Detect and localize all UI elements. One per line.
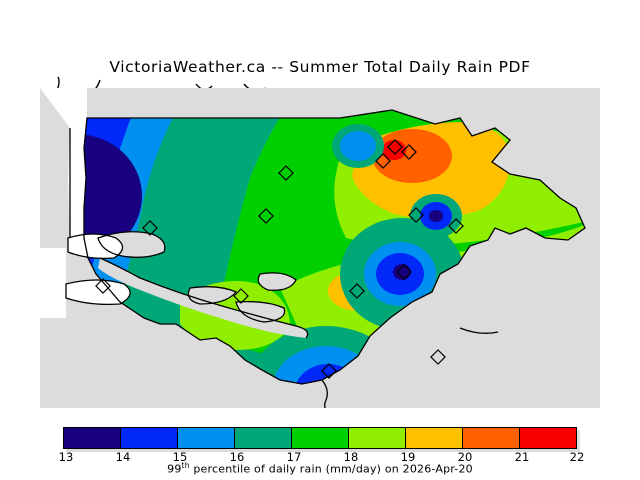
colorbar-swatch-19-20[interactable]	[406, 428, 463, 448]
offshore-southwest	[40, 248, 66, 318]
map-panel[interactable]	[40, 88, 600, 408]
colorbar[interactable]	[63, 427, 577, 449]
caption-ordinal: th	[182, 461, 190, 470]
colorbar-swatch-21-22[interactable]	[520, 428, 576, 448]
colorbar-swatch-16-17[interactable]	[235, 428, 292, 448]
colorbar-swatch-18-19[interactable]	[349, 428, 406, 448]
colorbar-swatch-14-15[interactable]	[121, 428, 178, 448]
caption-suffix: percentile of daily rain (mm/day) on 202…	[190, 463, 473, 476]
colorbar-caption: 99th percentile of daily rain (mm/day) o…	[0, 461, 640, 476]
contour-map[interactable]	[40, 88, 600, 408]
weather-map-page: VictoriaWeather.ca -- Summer Total Daily…	[0, 0, 640, 480]
colorbar-swatch-15-16[interactable]	[178, 428, 235, 448]
contour-core-13-14-neeast	[429, 210, 443, 222]
colorbar-swatch-13-14[interactable]	[64, 428, 121, 448]
coastline-fragments-top	[0, 40, 640, 90]
colorbar-swatch-20-21[interactable]	[463, 428, 520, 448]
caption-prefix: 99	[167, 463, 181, 476]
colorbar-swatch-17-18[interactable]	[292, 428, 349, 448]
contour-pocket-15-16-northcentral	[340, 131, 376, 161]
